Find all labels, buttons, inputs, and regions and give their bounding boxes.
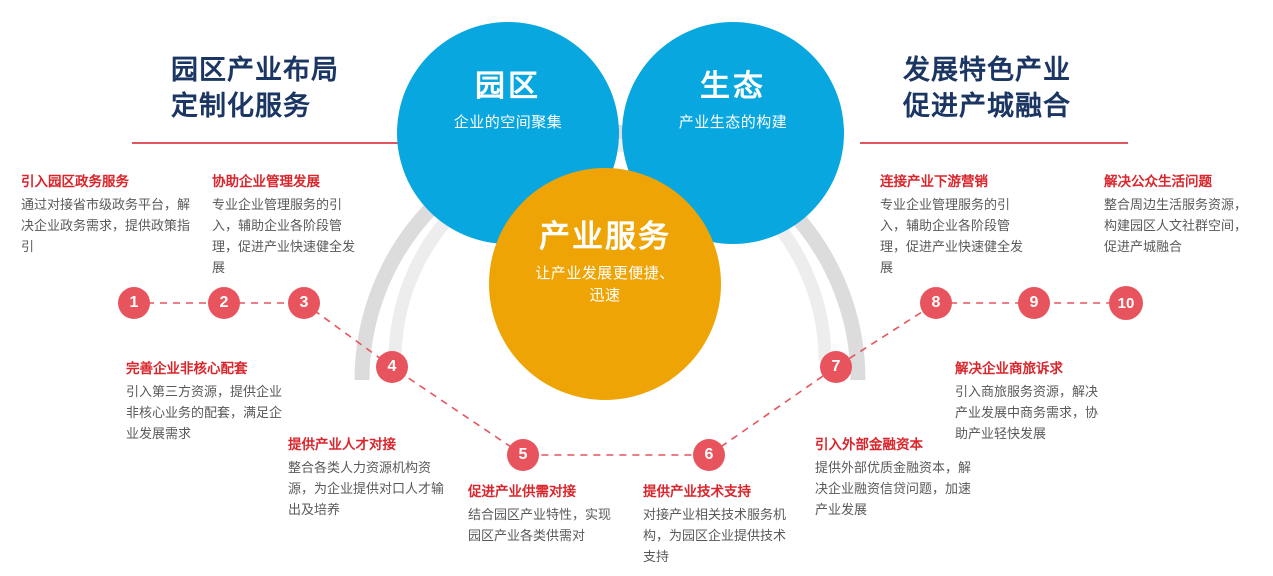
note-4-title: 提供产业人才对接 (288, 435, 453, 455)
note-2-body: 专业企业管理服务的引入，辅助企业各阶段管理，促进产业快速健全发展 (212, 194, 364, 278)
note-2: 协助企业管理发展 专业企业管理服务的引入，辅助企业各阶段管理，促进产业快速健全发… (212, 172, 364, 278)
bubble-park-subtitle: 企业的空间聚集 (454, 112, 563, 134)
divider-rule-left (132, 142, 406, 144)
note-9: 连接产业下游营销 专业企业管理服务的引入，辅助企业各阶段管理，促进产业快速健全发… (880, 172, 1032, 278)
note-1: 引入园区政务服务 通过对接省市级政务平台，解决企业政务需求，提供政策指引 (21, 172, 191, 257)
note-10-body: 整合周边生活服务资源，构建园区人文社群空间，促进产城融合 (1104, 194, 1256, 257)
note-8-title: 解决企业商旅诉求 (955, 359, 1107, 379)
step-node-1[interactable]: 1 (118, 287, 150, 319)
note-4: 提供产业人才对接 整合各类人力资源机构资源，为企业提供对口人才输出及培养 (288, 435, 453, 520)
note-5: 促进产业供需对接 结合园区产业特性，实现园区产业各类供需对 (468, 482, 623, 546)
bubble-park-title: 园区 (475, 70, 541, 103)
note-6-title: 提供产业技术支持 (643, 482, 798, 502)
step-node-7[interactable]: 7 (820, 351, 852, 383)
bubble-industry-service: 产业服务 让产业发展更便捷、迅速 (489, 168, 721, 400)
divider-rule-right (860, 142, 1128, 144)
note-3-title: 完善企业非核心配套 (126, 359, 294, 379)
headline-right-line2: 促进产城融合 (903, 89, 1071, 125)
note-7-title: 引入外部金融资本 (815, 435, 973, 455)
bubble-industry-service-subtitle: 让产业发展更便捷、迅速 (530, 263, 680, 307)
note-7-body: 提供外部优质金融资本，解决企业融资信贷问题，加速产业发展 (815, 457, 973, 520)
note-4-body: 整合各类人力资源机构资源，为企业提供对口人才输出及培养 (288, 457, 453, 520)
headline-right-line1: 发展特色产业 (903, 53, 1071, 89)
bubble-ecosystem-title: 生态 (700, 70, 766, 103)
note-10-title: 解决公众生活问题 (1104, 172, 1256, 192)
note-6: 提供产业技术支持 对接产业相关技术服务机构，为园区企业提供技术支持 (643, 482, 798, 567)
step-node-3[interactable]: 3 (288, 287, 320, 319)
step-node-9[interactable]: 9 (1018, 287, 1050, 319)
note-3-body: 引入第三方资源，提供企业非核心业务的配套，满足企业发展需求 (126, 381, 294, 444)
note-9-title: 连接产业下游营销 (880, 172, 1032, 192)
step-node-8[interactable]: 8 (920, 287, 952, 319)
note-8: 解决企业商旅诉求 引入商旅服务资源，解决产业发展中商务需求，协助产业轻快发展 (955, 359, 1107, 444)
headline-left-line2: 定制化服务 (171, 89, 339, 125)
step-node-2[interactable]: 2 (208, 287, 240, 319)
note-9-body: 专业企业管理服务的引入，辅助企业各阶段管理，促进产业快速健全发展 (880, 194, 1032, 278)
step-node-10[interactable]: 10 (1109, 286, 1143, 320)
headline-left-line1: 园区产业布局 (171, 53, 339, 89)
note-5-title: 促进产业供需对接 (468, 482, 623, 502)
note-5-body: 结合园区产业特性，实现园区产业各类供需对 (468, 504, 623, 546)
note-1-title: 引入园区政务服务 (21, 172, 191, 192)
step-node-6[interactable]: 6 (693, 439, 725, 471)
note-8-body: 引入商旅服务资源，解决产业发展中商务需求，协助产业轻快发展 (955, 381, 1107, 444)
note-2-title: 协助企业管理发展 (212, 172, 364, 192)
step-node-5[interactable]: 5 (507, 439, 539, 471)
bubble-ecosystem-subtitle: 产业生态的构建 (679, 112, 788, 134)
headline-left: 园区产业布局 定制化服务 (171, 53, 339, 125)
note-7: 引入外部金融资本 提供外部优质金融资本，解决企业融资信贷问题，加速产业发展 (815, 435, 973, 520)
note-10: 解决公众生活问题 整合周边生活服务资源，构建园区人文社群空间，促进产城融合 (1104, 172, 1256, 257)
infographic-canvas: 园区产业布局 定制化服务 发展特色产业 促进产城融合 园区 企业的空间聚集 生态… (0, 0, 1273, 576)
step-node-4[interactable]: 4 (376, 351, 408, 383)
headline-right: 发展特色产业 促进产城融合 (903, 53, 1071, 125)
note-1-body: 通过对接省市级政务平台，解决企业政务需求，提供政策指引 (21, 194, 191, 257)
note-3: 完善企业非核心配套 引入第三方资源，提供企业非核心业务的配套，满足企业发展需求 (126, 359, 294, 444)
bubble-industry-service-title: 产业服务 (539, 220, 671, 254)
note-6-body: 对接产业相关技术服务机构，为园区企业提供技术支持 (643, 504, 798, 567)
